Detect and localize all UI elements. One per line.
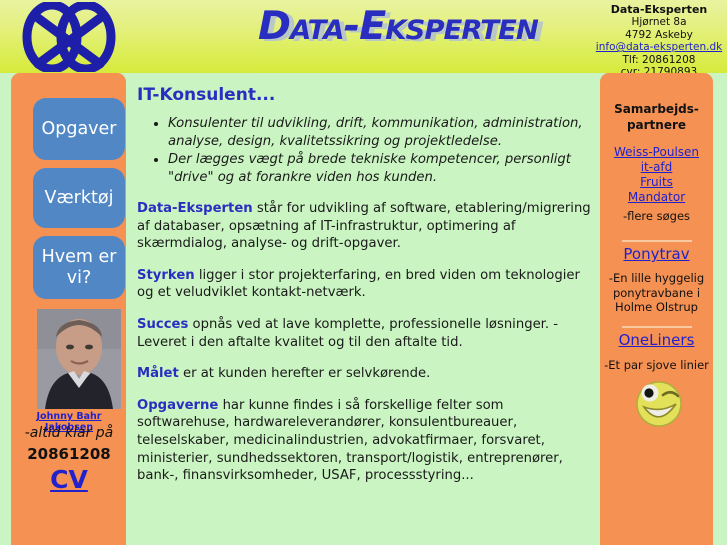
paragraph-maalet: Målet er at kunden herefter er selvkøren…	[137, 365, 592, 383]
nav-button-label: Værktøj	[45, 188, 114, 209]
person-tagline: -altid klar på	[15, 425, 123, 441]
contact-cvr: cvr: 21790893	[595, 66, 723, 73]
oneliners-link[interactable]: OneLiners	[604, 331, 709, 349]
banner-title: Data-Eksperten Data-Eksperten	[258, 4, 498, 70]
banner-title-text: Data-Eksperten	[258, 4, 503, 49]
paragraph-body: er at kunden herefter er selvkørende.	[179, 366, 431, 381]
left-sidebar: Opgaver Værktøj Hvem er vi? Johnny Bahr …	[11, 73, 126, 545]
nav-button-hvem-er-vi[interactable]: Hvem er vi?	[33, 236, 125, 299]
paragraph-body: ligger i stor projekterfaring, en bred v…	[137, 268, 580, 301]
site-header-banner: Data-Eksperten Data-Eksperten Data-Ekspe…	[0, 0, 727, 73]
contact-street: Hjørnet 8a	[595, 16, 723, 28]
portrait-photo	[37, 309, 121, 409]
ponytrav-description: -En lille hyggelig ponytravbane i Holme …	[602, 271, 711, 315]
intro-bullet-list: Konsulenter til udvikling, drift, kommun…	[134, 115, 592, 186]
nav-button-vaerktoj[interactable]: Værktøj	[33, 168, 125, 228]
contact-phone: Tlf: 20861208	[595, 54, 723, 66]
partner-link-fruits[interactable]: Fruits	[604, 175, 709, 190]
winking-smiley-icon	[633, 376, 685, 428]
contact-email-link[interactable]: info@data-eksperten.dk	[596, 41, 722, 53]
main-content: IT-Konsulent... Konsulenter til udviklin…	[134, 85, 592, 535]
nav-button-label: Opgaver	[41, 119, 116, 140]
more-partners-wanted: -flere søges	[604, 209, 709, 223]
partner-link-weiss-poulsen[interactable]: Weiss-Poulsen	[604, 145, 709, 160]
cv-link[interactable]: CV	[15, 465, 123, 494]
paragraph-body: opnås ved at lave komplette, professione…	[137, 317, 558, 350]
paragraph-opgaverne: Opgaverne har kunne findes i så forskell…	[137, 397, 592, 485]
nav-button-label: Hvem er vi?	[33, 247, 125, 289]
partner-link-it-afd[interactable]: it-afd	[604, 160, 709, 175]
paragraph-lead: Data-Eksperten	[137, 201, 253, 216]
page-title: IT-Konsulent...	[137, 85, 592, 105]
paragraph-lead: Målet	[137, 366, 179, 381]
paragraph-lead: Styrken	[137, 268, 195, 283]
person-phone: 20861208	[15, 445, 123, 463]
contact-company: Data-Eksperten	[595, 4, 723, 16]
paragraph-lead: Opgaverne	[137, 398, 218, 413]
paragraph-data-eksperten: Data-Eksperten står for udvikling af sof…	[137, 200, 592, 253]
partner-link-mandator[interactable]: Mandator	[604, 190, 709, 205]
ponytrav-link[interactable]: Ponytrav	[604, 245, 709, 263]
oneliners-description: -Et par sjove linier	[602, 358, 711, 372]
divider	[622, 240, 692, 242]
nav-button-opgaver[interactable]: Opgaver	[33, 98, 125, 160]
partner-link-list: Weiss-Poulsen it-afd Fruits Mandator	[604, 145, 709, 205]
infinity-knot-logo	[14, 2, 124, 72]
paragraph-succes: Succes opnås ved at lave komplette, prof…	[137, 316, 592, 351]
paragraph-lead: Succes	[137, 317, 188, 332]
partners-heading: Samarbejds-partnere	[604, 101, 709, 133]
list-item: Der lægges vægt på brede tekniske kompet…	[168, 151, 592, 186]
divider	[622, 326, 692, 328]
header-contact-block: Data-Eksperten Hjørnet 8a 4792 Askeby in…	[595, 4, 723, 73]
right-sidebar: Samarbejds-partnere Weiss-Poulsen it-afd…	[600, 73, 713, 545]
contact-city: 4792 Askeby	[595, 29, 723, 41]
paragraph-styrken: Styrken ligger i stor projekterfaring, e…	[137, 267, 592, 302]
list-item: Konsulenter til udvikling, drift, kommun…	[168, 115, 592, 150]
